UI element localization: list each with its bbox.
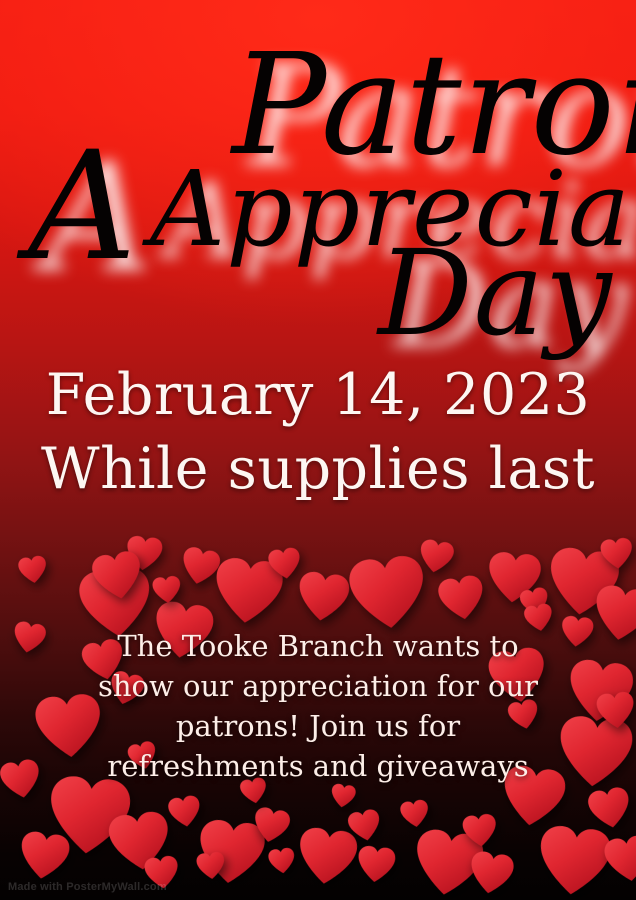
- heart-shape: [407, 825, 488, 900]
- poster-canvas: A Patron Appreciation Day A Patron Appre…: [0, 0, 636, 900]
- heart-shape: [123, 534, 165, 576]
- body-paragraph: The Tooke Branch wants to show our appre…: [96, 626, 540, 786]
- heart-shape: [166, 794, 205, 833]
- heart-shape: [16, 554, 50, 588]
- heart-shape: [151, 575, 184, 608]
- heart-shape: [104, 808, 175, 879]
- heart-shape: [328, 782, 357, 811]
- headline-day: Day: [378, 224, 613, 362]
- availability-note: While supplies last: [0, 432, 636, 506]
- heart-shape: [42, 772, 135, 865]
- heart-shape: [465, 849, 518, 900]
- heart-shape: [517, 585, 553, 621]
- heart-shape: [354, 844, 398, 888]
- heart-shape: [415, 537, 457, 579]
- heart-shape: [292, 824, 361, 893]
- heart-shape: [601, 833, 636, 889]
- heart-shape: [398, 798, 432, 832]
- heart-shape: [553, 713, 636, 798]
- heart-shape: [532, 822, 616, 900]
- heart-shape: [460, 812, 500, 852]
- heart-shape: [588, 582, 636, 651]
- date-block: February 14, 2023 While supplies last: [0, 358, 636, 506]
- heart-shape: [88, 548, 148, 608]
- heart-shape: [249, 805, 294, 850]
- heart-shape: [484, 550, 545, 611]
- heart-shape: [266, 546, 304, 584]
- heart-shape: [435, 573, 490, 628]
- heart-shape: [195, 851, 228, 884]
- heart-shape: [585, 785, 636, 836]
- heart-shape: [15, 829, 74, 888]
- heart-shape: [594, 690, 636, 734]
- heart-shape: [562, 656, 636, 732]
- postermywall-watermark: Made with PosterMyWall.com: [8, 881, 167, 893]
- heart-shape: [345, 807, 385, 847]
- heart-shape: [9, 619, 48, 658]
- heart-shape: [542, 544, 624, 626]
- heart-shape: [293, 569, 353, 629]
- heart-shape: [266, 846, 297, 877]
- heart-shape: [0, 757, 45, 806]
- heart-shape: [558, 614, 595, 651]
- heart-shape: [208, 554, 287, 633]
- heart-shape: [598, 536, 635, 573]
- headline-block: A Patron Appreciation Day A Patron Appre…: [0, 8, 636, 354]
- heart-shape: [193, 817, 270, 894]
- headline-a: A: [28, 120, 137, 294]
- event-date: February 14, 2023: [0, 358, 636, 432]
- heart-shape: [176, 544, 223, 591]
